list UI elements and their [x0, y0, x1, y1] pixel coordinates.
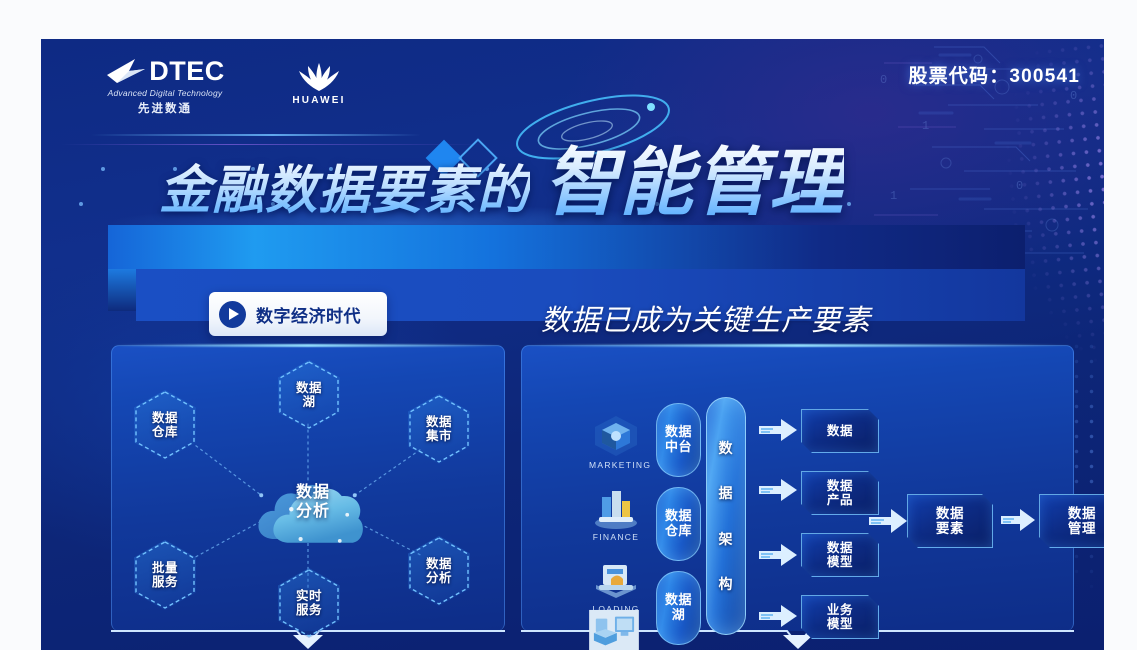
cloud-center-label: 数据 分析	[254, 484, 372, 522]
capsule-data-midplatform[interactable]: 数据 中台	[656, 403, 701, 477]
capsule-label-line1: 数据	[665, 592, 692, 607]
page-title: 金融数据要素的 智能管理	[159, 123, 844, 230]
data-architecture-tube[interactable]: 数 据 架 构	[706, 397, 746, 635]
tube-char-2: 据	[719, 483, 734, 503]
server-finance-icon	[589, 485, 643, 531]
chip-label-line1: 业务	[827, 603, 853, 617]
hex-label-line2: 服务	[152, 575, 178, 589]
chip-data-model[interactable]: 数据 模型	[801, 533, 879, 577]
capsule-label-line2: 仓库	[665, 523, 692, 538]
left-diagram-panel: 数据 分析 数据 仓库 数据 湖 数据 集市	[111, 345, 505, 631]
hex-label-line2: 仓库	[152, 425, 178, 439]
right-arrow-icon	[759, 479, 797, 501]
capsule-label-line1: 数据	[665, 424, 692, 439]
right-arrow-icon	[759, 544, 797, 566]
hex-label-line1: 实时	[296, 589, 322, 603]
huawei-wordmark: HUAWEI	[292, 95, 345, 106]
source-caption: FINANCE	[589, 532, 643, 542]
hex-label-line2: 分析	[426, 571, 452, 585]
dtec-logo: DTEC Advanced Digital Technology 先进数通	[85, 57, 245, 116]
chip-label-line1: 数据	[936, 506, 964, 521]
chip-label-line2: 模型	[827, 555, 853, 569]
tube-char-3: 架	[719, 529, 734, 549]
chip-label-line1: 数据	[827, 541, 853, 555]
page-title-part-two: 智能管理	[544, 123, 844, 230]
svg-text:0: 0	[880, 73, 887, 87]
hex-label-line2: 服务	[296, 603, 322, 617]
cloud-label-line1: 数据	[254, 484, 372, 503]
hex-label-line1: 数据	[426, 415, 452, 429]
hex-label-line1: 批量	[152, 561, 178, 575]
stock-code: 股票代码：300541	[908, 61, 1080, 88]
chip-label-line1: 数据	[827, 479, 853, 493]
chip-data[interactable]: 数据	[801, 409, 879, 453]
source-screen-database[interactable]	[587, 609, 641, 650]
svg-text:0: 0	[1070, 89, 1077, 103]
page-title-part-one: 金融数据要素的	[159, 148, 530, 223]
right-arrow-icon-final	[1001, 509, 1035, 531]
chip-label-line1: 数据	[1068, 506, 1096, 521]
hex-label-line1: 数据	[426, 557, 452, 571]
chip-data-management[interactable]: 数据 管理	[1039, 494, 1104, 548]
hex-node-data-warehouse[interactable]: 数据 仓库	[134, 390, 196, 460]
svg-text:0: 0	[1016, 179, 1023, 193]
chip-label-line2: 模型	[827, 617, 853, 631]
dtec-arrow-logo-icon	[105, 57, 147, 85]
play-triangle-icon	[219, 301, 246, 328]
screen-database-icon	[587, 609, 641, 650]
chip-label-line2: 管理	[1068, 521, 1096, 536]
dtec-tagline: Advanced Digital Technology	[108, 88, 223, 98]
hex-node-data-lake[interactable]: 数据 湖	[278, 360, 340, 430]
svg-text:1: 1	[890, 189, 897, 203]
svg-text:1: 1	[922, 119, 929, 133]
chip-data-element[interactable]: 数据 要素	[907, 494, 993, 548]
hex-node-data-analysis[interactable]: 数据 分析	[408, 536, 470, 606]
tube-char-4: 构	[719, 574, 734, 594]
hex-label-line2: 湖	[296, 395, 322, 409]
source-finance[interactable]: FINANCE	[589, 485, 643, 542]
chip-label-line2: 产品	[827, 493, 853, 507]
cube-marketing-icon	[589, 413, 643, 459]
chip-label-line1: 数据	[827, 424, 853, 438]
section-tag-label: 数字经济时代	[256, 302, 361, 327]
source-caption: MARKETING	[589, 460, 643, 470]
hex-node-realtime-service[interactable]: 实时 服务	[278, 568, 340, 638]
chip-data-product[interactable]: 数据 产品	[801, 471, 879, 515]
chip-label-line2: 要素	[936, 521, 964, 536]
hex-node-batch-service[interactable]: 批量 服务	[134, 540, 196, 610]
section-tag-pill[interactable]: 数字经济时代	[209, 292, 387, 336]
hex-label-line2: 集市	[426, 429, 452, 443]
dtec-wordmark: DTEC	[149, 58, 225, 85]
logo-group: DTEC Advanced Digital Technology 先进数通 HU…	[85, 57, 359, 116]
banner-headline: 数据已成为关键生产要素	[541, 297, 871, 339]
right-arrow-icon-merge	[869, 509, 907, 533]
chip-business-model[interactable]: 业务 模型	[801, 595, 879, 639]
loading-data-icon	[589, 557, 643, 603]
hex-label-line1: 数据	[152, 411, 178, 425]
source-loading[interactable]: LOADING	[589, 557, 643, 614]
capsule-data-warehouse[interactable]: 数据 仓库	[656, 487, 701, 561]
capsule-label-line2: 湖	[672, 607, 686, 622]
hex-label-line1: 数据	[296, 381, 322, 395]
huawei-logo: HUAWEI	[279, 57, 359, 106]
tube-char-1: 数	[719, 438, 734, 458]
slide-canvas: 01 01 0	[41, 39, 1104, 650]
cloud-label-line2: 分析	[254, 503, 372, 522]
dtec-chinese-name: 先进数通	[138, 100, 192, 116]
capsule-data-lake[interactable]: 数据 湖	[656, 571, 701, 645]
banner-step-block	[108, 269, 136, 311]
capsule-label-line2: 中台	[665, 439, 692, 454]
right-arrow-icon	[759, 419, 797, 441]
right-arrow-icon	[759, 605, 797, 627]
huawei-petal-logo-icon	[296, 60, 342, 92]
hex-node-data-mart[interactable]: 数据 集市	[408, 394, 470, 464]
banner-top-bar	[108, 225, 1025, 269]
source-marketing[interactable]: MARKETING	[589, 413, 643, 470]
dot-matrix-decoration	[887, 39, 1104, 390]
capsule-label-line1: 数据	[665, 508, 692, 523]
